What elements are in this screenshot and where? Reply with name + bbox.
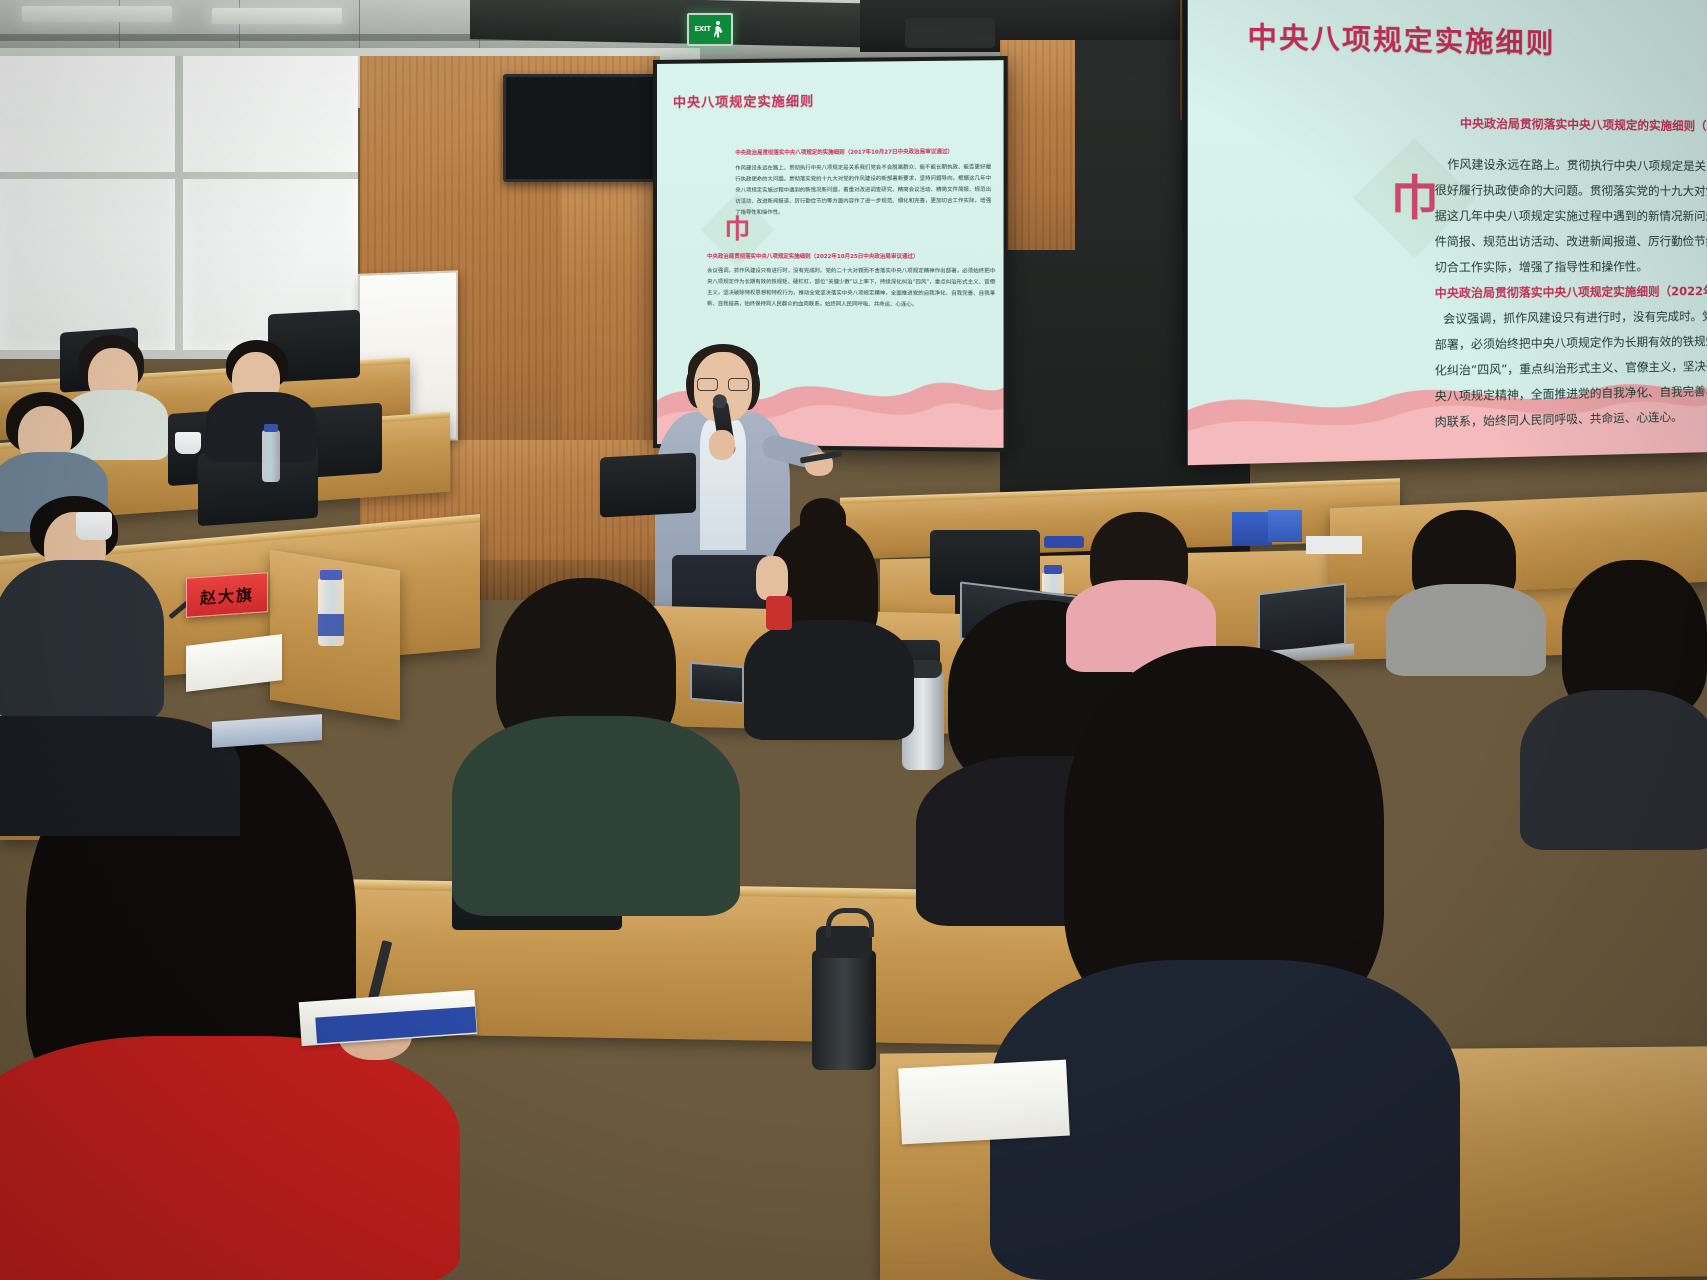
notebook xyxy=(898,1060,1070,1145)
tablet-device xyxy=(690,662,744,705)
audience-raised-hand xyxy=(756,556,788,600)
projector xyxy=(905,18,995,48)
audience-red-item xyxy=(766,596,792,630)
wall-tv xyxy=(503,74,659,182)
slide-right-body-line: 作风建设永远在路上。贯彻执行中央八项规定是关系我 xyxy=(1447,156,1707,174)
slide-left-heading-1: 中央政治局贯彻落实中央八项规定的实施细则（2017年10月27日中央政治局审议通… xyxy=(735,147,953,156)
audience-torso-foreground xyxy=(0,1036,460,1280)
audience-torso xyxy=(1520,690,1707,850)
pen-case xyxy=(1044,536,1084,548)
slide-left-body-1: 作风建设永远在路上。贯彻执行中央八项规定是关系我们党会不会脱离群众、能不能长期执… xyxy=(735,162,991,219)
audience-shoulder-foreground xyxy=(0,716,240,836)
slide-left-body-2: 会议强调，抓作风建设只有进行时，没有完成时。党的二十大对锲而不舍落实中央八项规定… xyxy=(707,266,995,311)
paper-stack xyxy=(1306,536,1362,554)
audience-torso xyxy=(744,620,914,740)
slide-right-body2-line: 会议强调，抓作风建设只有进行时，没有完成时。党的二十 xyxy=(1443,308,1707,327)
tissue-box xyxy=(1232,512,1272,546)
bottle-cap xyxy=(320,570,342,580)
audience-torso xyxy=(1386,584,1546,676)
tissue-box xyxy=(1268,510,1302,542)
cup xyxy=(175,432,201,454)
bottle-cap xyxy=(264,424,278,432)
classroom-photo: EXIT 中央八项规定实施细则 巾 中央政治局贯彻落实中央八项规定的实施细则（2… xyxy=(0,0,1707,1280)
bottle-cap xyxy=(1044,565,1062,574)
slide-left-title: 中央八项规定实施细则 xyxy=(673,90,814,110)
audience-torso xyxy=(452,716,740,916)
slide-left-heading-2: 中央政治局贯彻落实中央八项规定实施细则（2022年10月25日中央政治局审议通过… xyxy=(707,252,918,260)
slide-right-body-line: 切合工作实际，增强了指导性和操作性。 xyxy=(1435,258,1648,275)
window-pane xyxy=(0,56,175,356)
slide-right-body-line: 件简报、规范出访活动、改进新闻报道、厉行勤俭节约等 xyxy=(1435,233,1707,250)
slide-right-heading-1: 中央政治局贯彻落实中央八项规定的实施细则（2 xyxy=(1460,115,1707,134)
slide-right-body-line: 很好履行执政使命的大问题。贯彻落实党的十九大对党 xyxy=(1435,182,1707,199)
exit-sign-label: EXIT xyxy=(694,26,710,33)
ceiling-light xyxy=(22,6,172,22)
projection-screen-right: 中央八项规定实施细则 巾 中央政治局贯彻落实中央八项规定的实施细则（2 作风建设… xyxy=(1182,0,1707,465)
slide-right-body-line: 据这几年中央八项规定实施过程中遇到的新情况新问题， xyxy=(1435,207,1707,224)
slide-right-heading-2: 中央政治局贯彻落实中央八项规定实施细则（2022年1 xyxy=(1435,283,1707,301)
presenter-glasses xyxy=(697,378,749,391)
wall-paneling-right xyxy=(1000,40,1075,250)
slide-right-title: 中央八项规定实施细则 xyxy=(1247,15,1555,62)
slide-right-body2-line: 部署，必须始终把中央八项规定作为长期有效的铁规矩、硬 xyxy=(1435,333,1707,353)
audience-ponytail xyxy=(800,498,846,538)
chair xyxy=(600,452,696,517)
slide-right: 中央八项规定实施细则 巾 中央政治局贯彻落实中央八项规定的实施细则（2 作风建设… xyxy=(1188,0,1707,465)
ceiling-light xyxy=(212,8,342,24)
presenter-hand-left xyxy=(709,430,735,460)
book xyxy=(212,714,322,748)
audience-torso xyxy=(0,560,164,720)
thermos-handle xyxy=(826,908,874,937)
thermos-flask-foreground xyxy=(812,950,876,1070)
running-man-icon xyxy=(713,20,726,40)
exit-sign: EXIT xyxy=(687,13,733,46)
cup xyxy=(76,512,112,540)
bottle-label xyxy=(318,614,344,636)
nameplate-left: 赵大旗 xyxy=(186,572,268,618)
water-bottle xyxy=(262,430,280,482)
nameplate-left-text: 赵大旗 xyxy=(200,581,254,609)
audience-torso xyxy=(206,392,316,462)
